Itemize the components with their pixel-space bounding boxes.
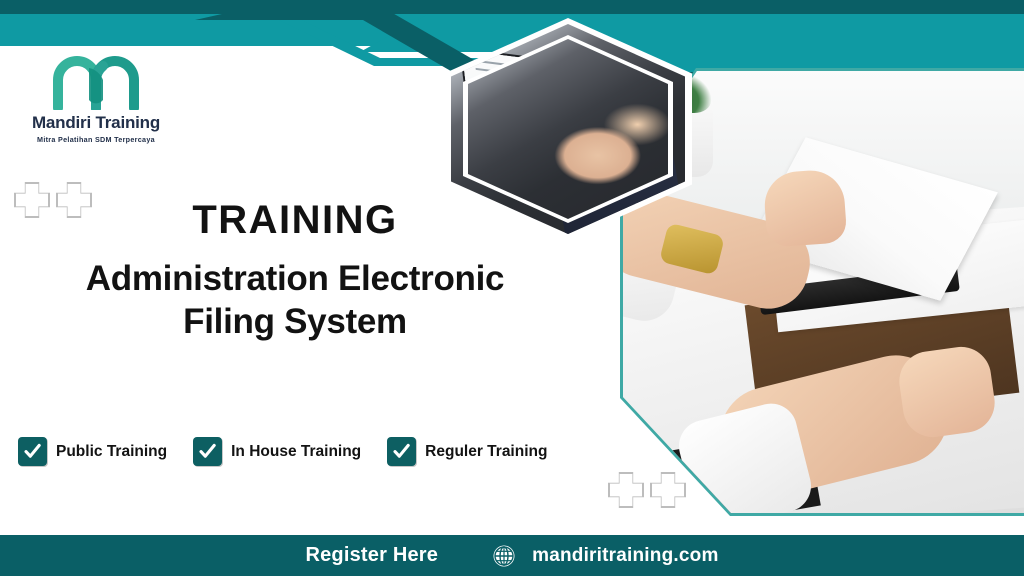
checkbox-checked-icon[interactable] <box>18 437 47 466</box>
title-line-1: Administration Electronic <box>50 258 540 301</box>
brand-logo: Mandiri Training Mitra Pelatihan SDM Ter… <box>16 56 176 144</box>
x-cross-outline-icon <box>608 472 644 508</box>
website-group[interactable]: mandiritraining.com <box>492 544 718 568</box>
option-reguler-training[interactable]: Reguler Training <box>387 437 547 466</box>
option-public-training[interactable]: Public Training <box>18 437 167 466</box>
x-cross-outline-icon <box>650 472 686 508</box>
option-in-house-training[interactable]: In House Training <box>193 437 361 466</box>
website-url[interactable]: mandiritraining.com <box>532 545 718 567</box>
headline-block: TRAINING Administration Electronic Filin… <box>50 200 540 343</box>
x-cross-outline-icon <box>14 182 50 218</box>
photo-left-hand <box>763 168 848 247</box>
x-decoration-bottom <box>608 472 686 508</box>
training-options-list: Public Training In House Training Regule… <box>18 437 547 466</box>
checkbox-checked-icon[interactable] <box>387 437 416 466</box>
title-line-2: Filing System <box>50 301 540 344</box>
option-label: Public Training <box>56 443 167 461</box>
kicker-training: TRAINING <box>50 200 540 240</box>
banner-top-dark-bar <box>0 0 1024 14</box>
brand-name: Mandiri Training <box>16 113 176 133</box>
register-here-cta[interactable]: Register Here <box>305 544 438 567</box>
training-flyer: Mandiri Training Mitra Pelatihan SDM Ter… <box>0 0 1024 576</box>
checkbox-checked-icon[interactable] <box>193 437 222 466</box>
footer-bar: Register Here mandiritraining.com <box>0 535 1024 576</box>
mandiri-double-arch-logo-icon <box>53 56 139 110</box>
photo-right-hand <box>895 343 998 441</box>
page-title: Administration Electronic Filing System <box>50 258 540 343</box>
option-label: Reguler Training <box>425 443 547 461</box>
option-label: In House Training <box>231 443 361 461</box>
globe-icon <box>492 544 516 568</box>
brand-tagline: Mitra Pelatihan SDM Terpercaya <box>16 135 176 144</box>
